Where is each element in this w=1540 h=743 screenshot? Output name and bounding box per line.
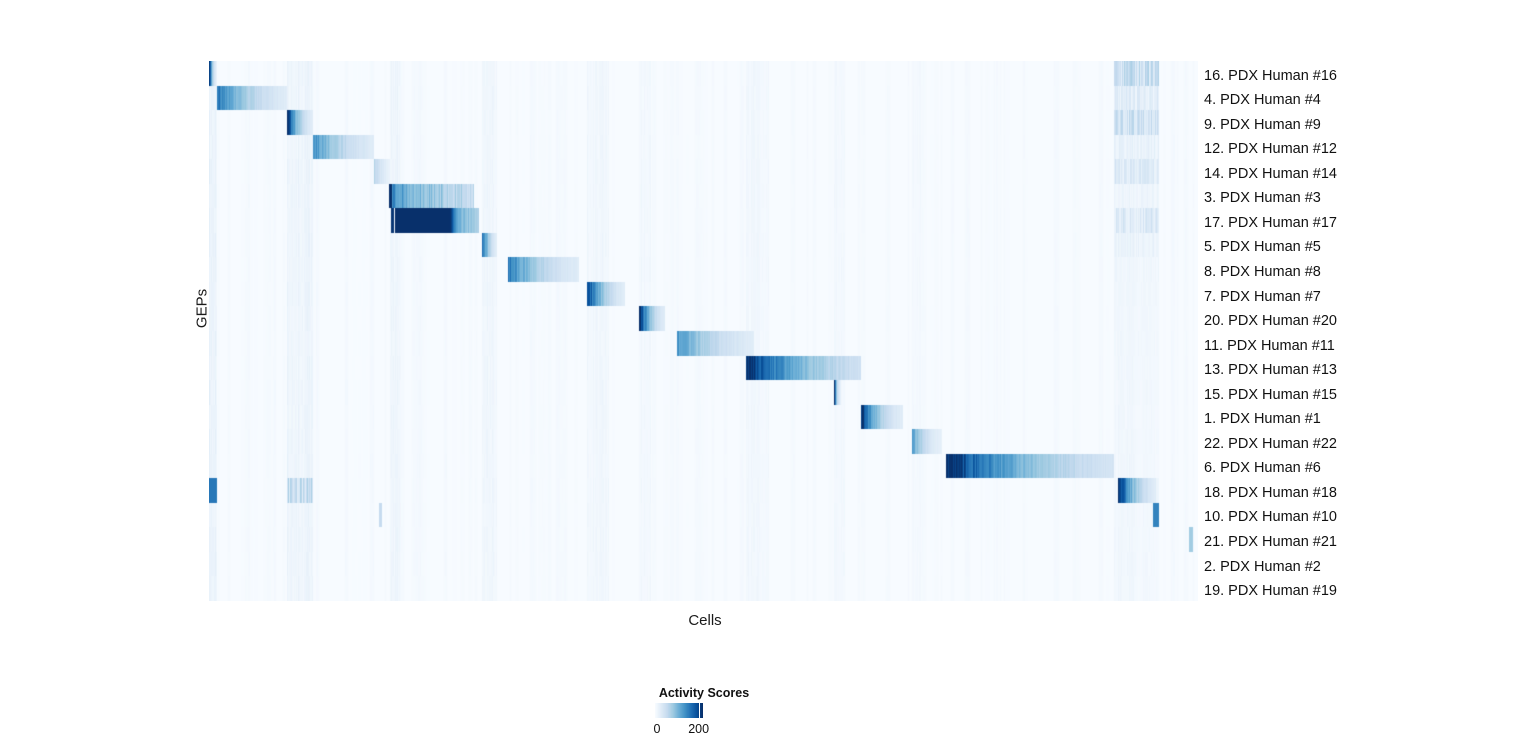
heatmap-row-label: 22. PDX Human #22 [1204,437,1337,452]
heatmap-row-label: 4. PDX Human #4 [1204,93,1321,108]
heatmap-row-label: 10. PDX Human #10 [1204,510,1337,525]
colorbar-canvas [655,703,703,718]
heatmap-row-label: 14. PDX Human #14 [1204,167,1337,182]
colorbar-title: Activity Scores [640,686,768,700]
heatmap-row-label: 21. PDX Human #21 [1204,535,1337,550]
heatmap-row-label-list: 16. PDX Human #164. PDX Human #49. PDX H… [1204,61,1534,601]
heatmap-row-label: 3. PDX Human #3 [1204,191,1321,206]
heatmap-row-label: 7. PDX Human #7 [1204,290,1321,305]
heatmap-row-label: 9. PDX Human #9 [1204,118,1321,133]
heatmap-row-label: 18. PDX Human #18 [1204,486,1337,501]
heatmap-row-label: 15. PDX Human #15 [1204,388,1337,403]
heatmap-row-label: 17. PDX Human #17 [1204,216,1337,231]
heatmap-row-label: 19. PDX Human #19 [1204,584,1337,599]
heatmap-row-label: 11. PDX Human #11 [1204,339,1335,354]
heatmap-row-label: 12. PDX Human #12 [1204,142,1337,157]
heatmap-row-label: 16. PDX Human #16 [1204,69,1337,84]
heatmap-figure: GEPs Cells 16. PDX Human #164. PDX Human… [0,0,1540,743]
x-axis-label: Cells [605,612,805,629]
heatmap-plot-area[interactable] [209,61,1198,601]
heatmap-canvas[interactable] [209,61,1198,601]
colorbar-tick [699,703,700,718]
colorbar-tick-label: 200 [688,722,709,736]
colorbar-gradient [655,703,703,718]
heatmap-row-label: 20. PDX Human #20 [1204,314,1337,329]
y-axis-label: GEPs [194,279,211,339]
colorbar-tick-label: 0 [654,722,661,736]
heatmap-row-label: 8. PDX Human #8 [1204,265,1321,280]
heatmap-row-label: 1. PDX Human #1 [1204,412,1321,427]
heatmap-row-label: 2. PDX Human #2 [1204,560,1321,575]
colorbar-legend: Activity Scores 0200 [640,686,820,738]
heatmap-row-label: 5. PDX Human #5 [1204,240,1321,255]
heatmap-row-label: 13. PDX Human #13 [1204,363,1337,378]
heatmap-row-label: 6. PDX Human #6 [1204,461,1321,476]
